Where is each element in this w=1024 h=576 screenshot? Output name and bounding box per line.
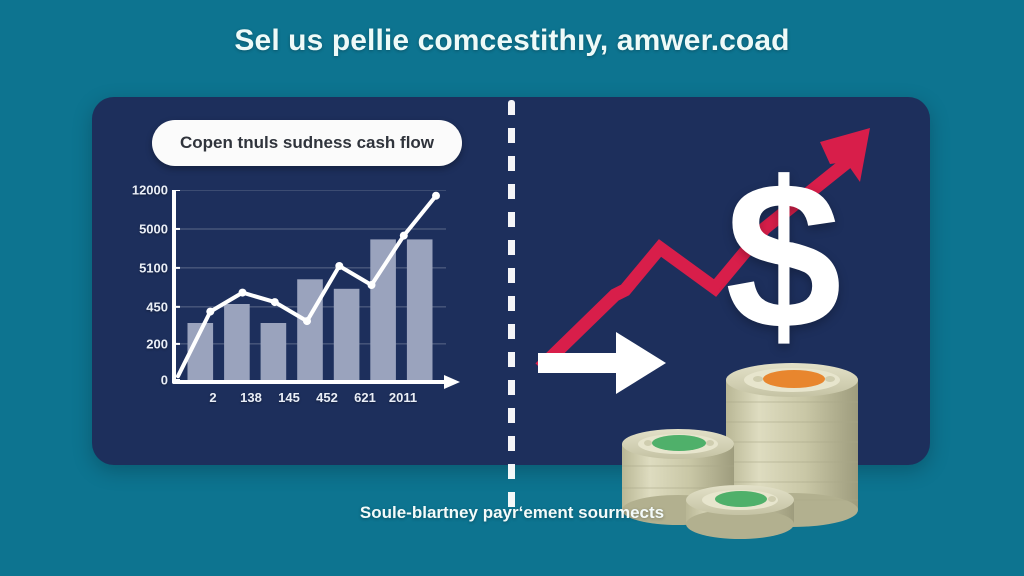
chart-bar — [334, 289, 360, 380]
chart-label-text: Copen tnuls sudness cash flow — [180, 133, 434, 153]
chart-label-pill: Copen tnuls sudness cash flow — [152, 120, 462, 166]
y-axis-tick-label: 450 — [146, 299, 168, 314]
y-axis-tick-label: 0 — [161, 373, 168, 388]
x-axis-tick-label: 621 — [354, 390, 376, 405]
line-marker — [239, 289, 247, 297]
line-marker — [335, 262, 343, 270]
y-axis-tick-label: 5100 — [139, 260, 168, 275]
line-marker — [271, 298, 279, 306]
line-marker — [303, 317, 311, 325]
chart-bar — [407, 239, 433, 380]
line-marker — [368, 281, 376, 289]
y-axis-labels: 12000500051004502000 — [110, 190, 172, 375]
chart-bar — [370, 239, 396, 380]
screenshot-stage: Sel us pellie comcestithıy, amwer.coad C… — [0, 0, 1024, 576]
x-axis-tick-label: 145 — [278, 390, 300, 405]
x-axis-tick-label: 2011 — [389, 390, 417, 405]
coin-face-green — [652, 435, 706, 451]
bars-group — [188, 239, 433, 380]
line-marker — [400, 232, 408, 240]
chart-bar — [297, 279, 323, 380]
x-axis-labels: 21381454526212011 — [172, 390, 460, 412]
x-axis-arrowhead — [444, 375, 460, 389]
x-axis-tick-label: 2 — [209, 390, 216, 405]
chart-plot-area — [172, 190, 460, 380]
chart-bar — [224, 304, 250, 380]
line-marker — [432, 192, 440, 200]
y-axis-tick-label: 12000 — [132, 183, 168, 198]
coin-face-orange — [763, 370, 825, 388]
x-axis-tick-label: 452 — [316, 390, 338, 405]
footer-caption: Soule-blartney payr‘ement sourmects — [0, 503, 1024, 523]
page-title: Sel us pellie comcestithıy, amwer.coad — [0, 24, 1024, 58]
y-axis-tick-label: 5000 — [139, 221, 168, 236]
x-axis-tick-label: 138 — [240, 390, 262, 405]
line-marker — [206, 308, 214, 316]
y-axis-tick-label: 200 — [146, 336, 168, 351]
bar-line-chart: 12000500051004502000 21381454526212011 — [110, 190, 460, 405]
vertical-dashed-divider — [508, 100, 515, 512]
dollar-sign-icon: $ — [725, 170, 842, 342]
chart-svg — [172, 190, 460, 405]
chart-bar — [261, 323, 287, 380]
